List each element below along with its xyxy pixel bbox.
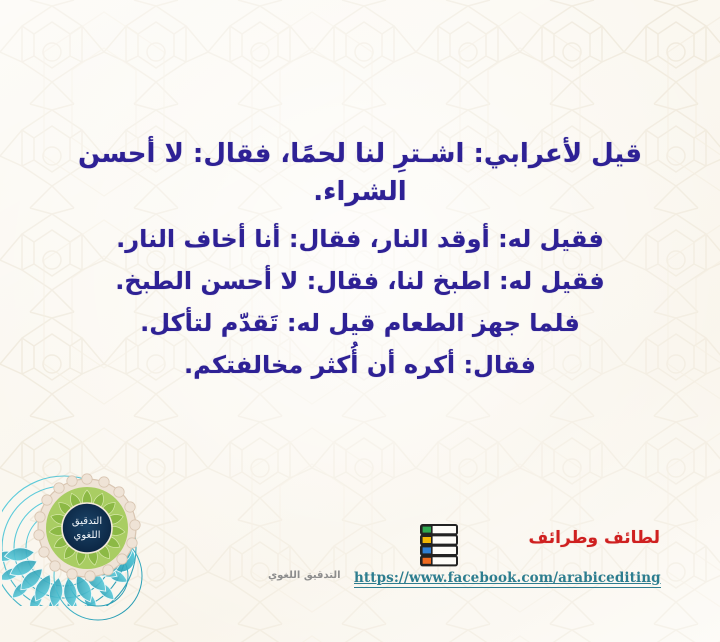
medallion-center: التدقيق اللغوي	[62, 503, 112, 553]
footer-page-name: التدقيق اللغوي	[268, 570, 341, 581]
facebook-page-link[interactable]: https://www.facebook.com/arabicediting	[354, 570, 661, 588]
anecdote-line-5: فلما جهز الطعام قيل له: تَقدّم لتأكل.	[40, 308, 680, 339]
footer-brand-label: لطائف وطرائف	[529, 528, 660, 548]
anecdote-text-block: قيل لأعرابي: اشـترِ لنا لحمًا، فقال: لا …	[40, 138, 680, 381]
anecdote-line-6: فقال: أكره أن أُكثر مخالفتكم.	[40, 350, 680, 381]
anecdote-line-1: قيل لأعرابي: اشـترِ لنا لحمًا، فقال: لا …	[40, 138, 680, 172]
brand-logo: التدقيق اللغوي	[2, 456, 162, 626]
logo-center-text-bottom: اللغوي	[74, 530, 101, 541]
anecdote-line-4: فقيل له: اطبخ لنا، فقال: لا أحسن الطبخ.	[40, 266, 680, 297]
anecdote-line-3: فقيل له: أوقد النار، فقال: أنا أخاف النا…	[40, 224, 680, 255]
logo-center-text-top: التدقيق	[72, 516, 102, 527]
anecdote-line-2: الشراء.	[40, 176, 680, 210]
anecdote-card: قيل لأعرابي: اشـترِ لنا لحمًا، فقال: لا …	[0, 0, 720, 642]
stacked-books-icon	[418, 522, 460, 568]
